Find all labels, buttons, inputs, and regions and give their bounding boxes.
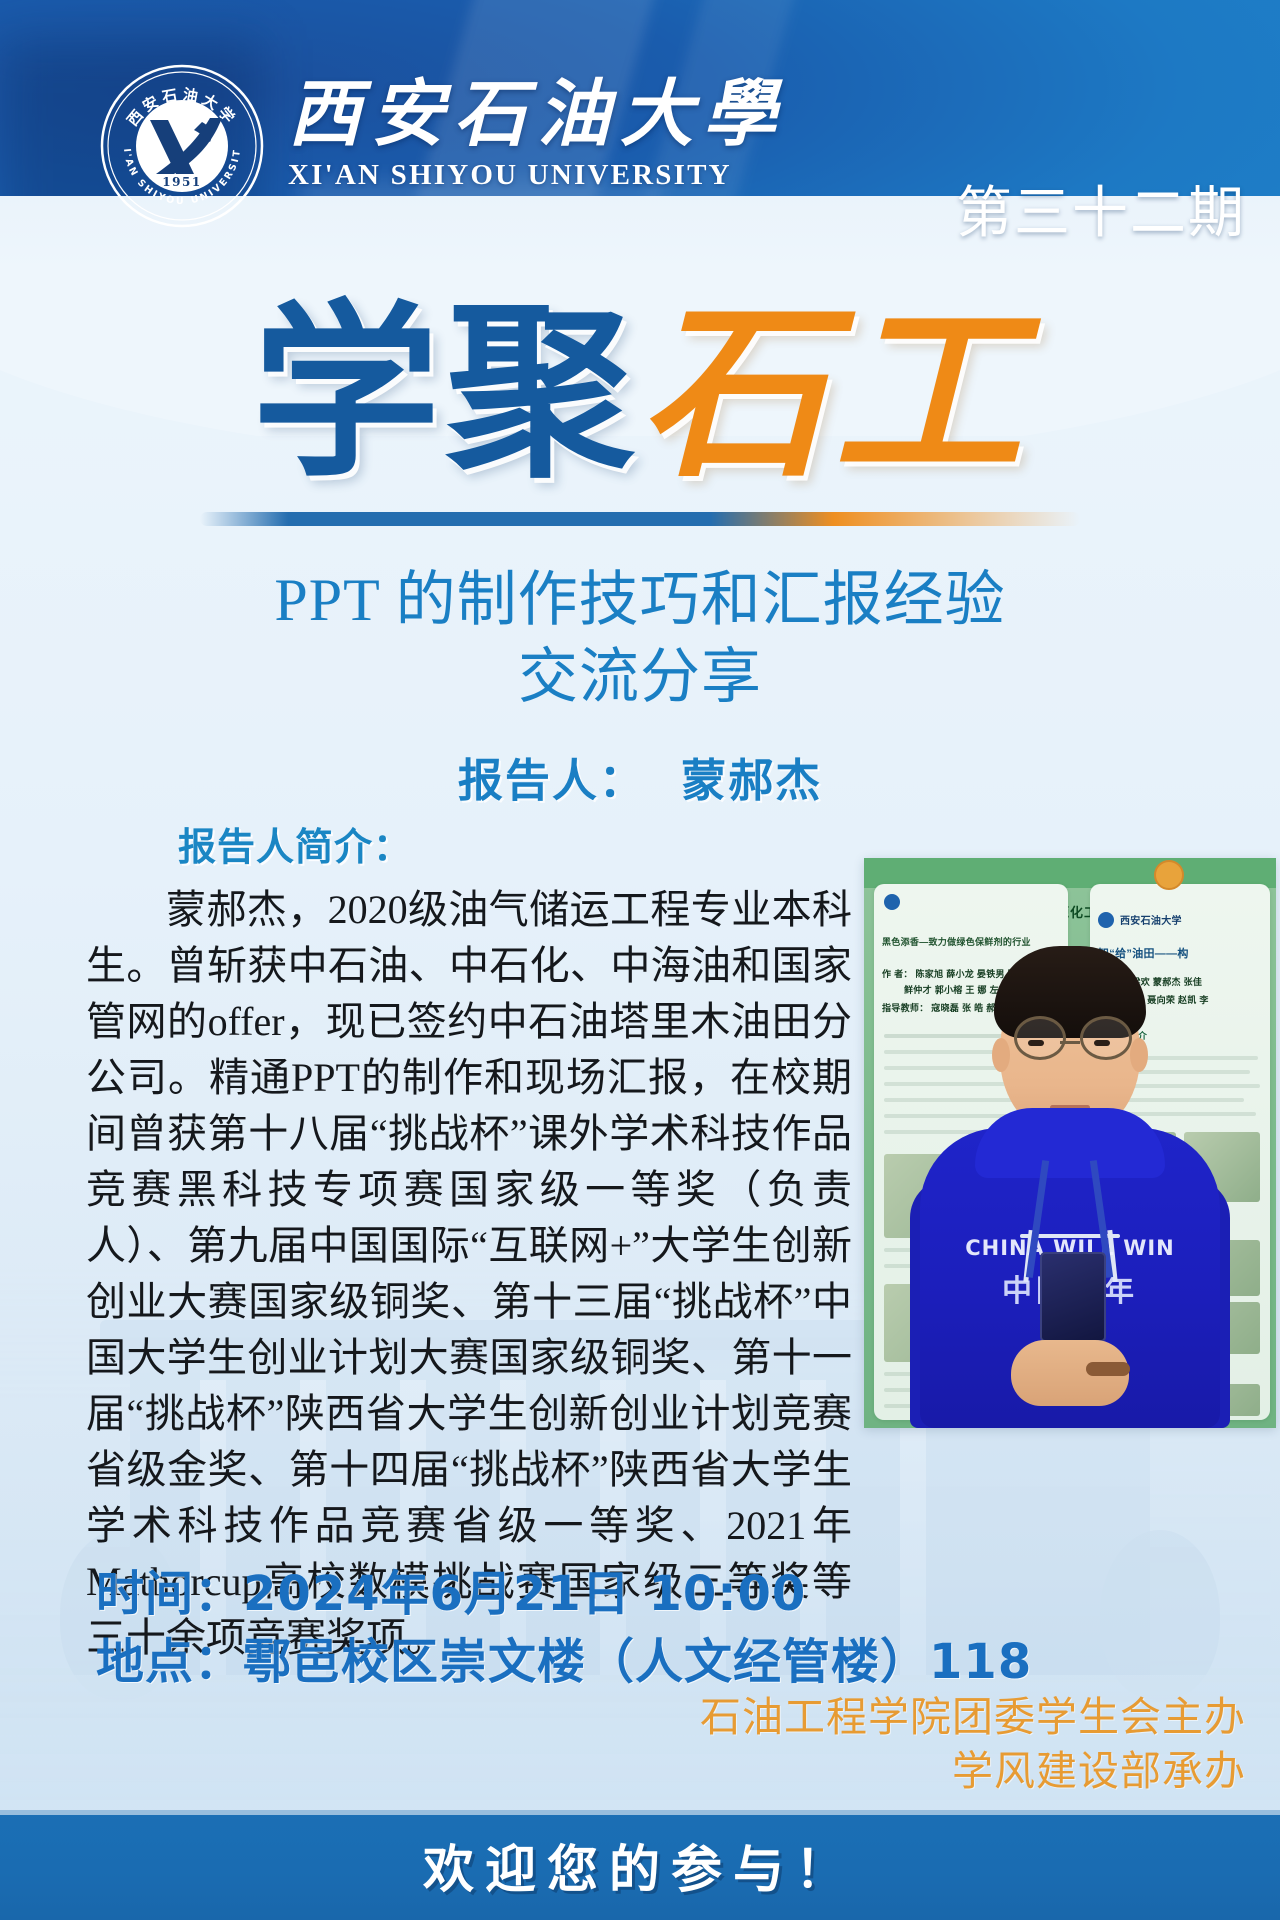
bio-heading: 报告人简介： xyxy=(178,816,412,871)
speaker-photo: 能源化工 黑色添香—致力做绿色保鲜剂的行业 作 者： 陈家旭 薛小龙 晏铁男 陈… xyxy=(864,858,1276,1428)
portrait-hood-collar xyxy=(975,1108,1165,1178)
event-place-row: 地点：鄠邑校区崇文楼（人文经管楼）118 xyxy=(96,1628,1032,1696)
organizer-line-1: 石油工程学院团委学生会主办 xyxy=(700,1690,1246,1744)
speaker-portrait: CHINA WILL WIN 中国青年 xyxy=(920,998,1220,1428)
portrait-eye-left xyxy=(1028,1040,1044,1046)
bio-text-block: 蒙郝杰，2020级油气储运工程专业本科生。曾斩获中石油、中石化、中海油和国家管网… xyxy=(86,882,852,1666)
glasses-lens-right-icon xyxy=(1080,1016,1132,1060)
event-info: 时间：2024年6月21日 10:00 地点：鄠邑校区崇文楼（人文经管楼）118 xyxy=(96,1560,1032,1696)
portrait-ear-right xyxy=(1130,1038,1148,1072)
event-place-label: 地点： xyxy=(96,1634,243,1690)
lecture-title-line2: 交流分享 xyxy=(0,639,1280,716)
footer-welcome-text: 欢迎您的参与！ xyxy=(423,1828,857,1902)
photo-right-poster-emblem-icon xyxy=(1154,860,1184,890)
portrait-ear-left xyxy=(992,1038,1010,1072)
photo-left-poster-logo-icon xyxy=(884,894,900,910)
university-wordmark: 西安石油大學 XI'AN SHIYOU UNIVERSITY xyxy=(288,78,848,218)
university-seal-logo: 西安石油大学 XI'AN SHIYOU UNIVERSITY 1951 xyxy=(98,62,266,230)
svg-text:1951: 1951 xyxy=(162,175,201,189)
issue-number: 第三十二期 xyxy=(956,168,1246,249)
photo-right-poster-title: 智“给”油田——构 xyxy=(1098,946,1264,963)
conference-badge xyxy=(1040,1252,1106,1342)
wordmark-english: XI'AN SHIYOU UNIVERSITY xyxy=(288,159,848,192)
photo-right-poster-logo-icon xyxy=(1098,912,1114,928)
wrist-bracelet xyxy=(1086,1362,1130,1376)
speaker-line: 报告人： 蒙郝杰 xyxy=(0,744,1280,809)
glasses-bridge-icon xyxy=(1060,1041,1080,1044)
wordmark-chinese: 西安石油大學 xyxy=(288,78,848,151)
lecture-title: PPT 的制作技巧和汇报经验 交流分享 xyxy=(0,562,1280,716)
brand-underline-swoosh xyxy=(200,512,1080,526)
glasses-lens-left-icon xyxy=(1014,1016,1066,1060)
photo-left-poster-title: 黑色添香—致力做绿色保鲜剂的行业 xyxy=(882,936,1060,950)
event-time-row: 时间：2024年6月21日 10:00 xyxy=(96,1560,1032,1628)
organizer-block: 石油工程学院团委学生会主办 学风建设部承办 xyxy=(700,1690,1246,1798)
brand-part-orange: 石工 xyxy=(640,300,1028,488)
bio-paragraph: 蒙郝杰，2020级油气储运工程专业本科生。曾斩获中石油、中石化、中海油和国家管网… xyxy=(86,882,852,1666)
speaker-label: 报告人： xyxy=(458,754,646,807)
event-place-value: 鄠邑校区崇文楼（人文经管楼）118 xyxy=(243,1634,1032,1690)
portrait-eye-right xyxy=(1094,1040,1110,1046)
brand-part-blue: 学聚 xyxy=(252,300,640,488)
event-time-label: 时间： xyxy=(96,1566,243,1622)
footer-top-rule xyxy=(0,1810,1280,1815)
lecture-title-line1: PPT 的制作技巧和汇报经验 xyxy=(0,562,1280,639)
speaker-name: 蒙郝杰 xyxy=(681,754,822,807)
series-brand-title: 学聚石工 xyxy=(0,300,1280,488)
poster-root: 西安石油大学 XI'AN SHIYOU UNIVERSITY 1951 西安石油… xyxy=(0,0,1280,1920)
event-time-value: 2024年6月21日 10:00 xyxy=(243,1566,806,1622)
watermark-tree xyxy=(1100,1530,1220,1700)
photo-right-poster-university: 西安石油大学 xyxy=(1120,914,1182,930)
organizer-line-2: 学风建设部承办 xyxy=(700,1744,1246,1798)
poster-footer: 欢迎您的参与！ xyxy=(0,1810,1280,1920)
